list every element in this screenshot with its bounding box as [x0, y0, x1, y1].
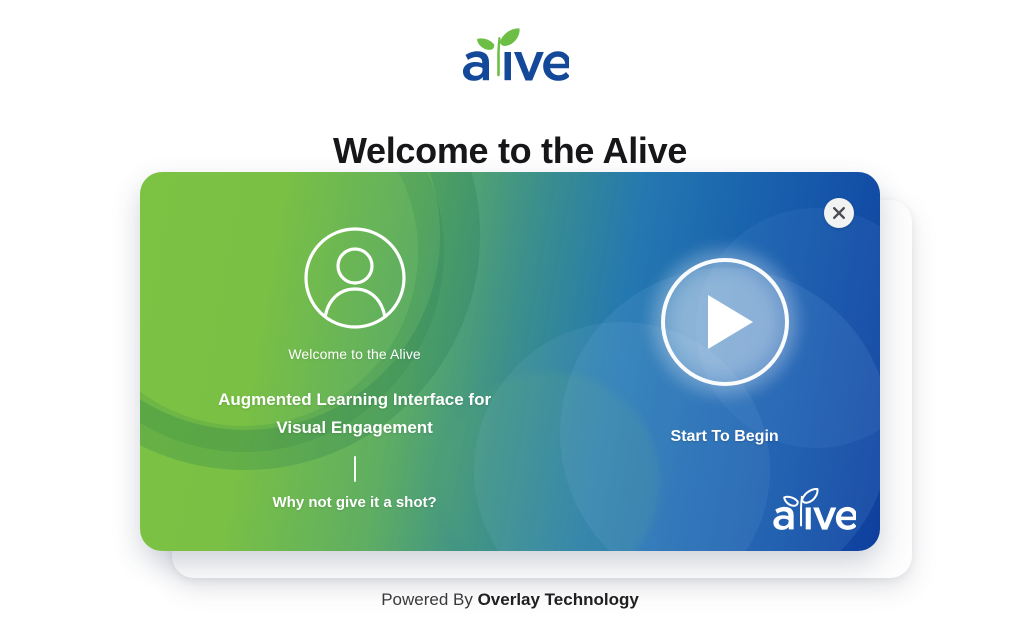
start-to-begin-label: Start To Begin	[671, 428, 779, 446]
footer-powered-by: Powered By	[381, 590, 477, 609]
brand-logo	[0, 18, 1020, 90]
user-avatar-icon	[303, 226, 407, 330]
close-icon	[832, 206, 846, 220]
footer: Powered By Overlay Technology	[0, 590, 1020, 610]
card-welcome-text: Welcome to the Alive	[288, 346, 420, 362]
card-headline: Augmented Learning Interface for Visual …	[218, 386, 491, 442]
welcome-screen: Welcome to the Alive	[0, 0, 1020, 638]
play-button-ring	[661, 258, 789, 386]
card-stack: Welcome to the Alive Augmented Learning …	[140, 172, 912, 582]
play-triangle-icon	[708, 295, 753, 349]
page-title: Welcome to the Alive	[0, 130, 1020, 172]
card-tagline: Why not give it a shot?	[273, 494, 437, 511]
alive-sprout-logo-icon	[451, 22, 569, 86]
vertical-divider	[354, 456, 356, 482]
alive-watermark-logo	[764, 483, 856, 535]
welcome-card: Welcome to the Alive Augmented Learning …	[140, 172, 880, 551]
close-button[interactable]	[824, 198, 854, 228]
alive-watermark-logo-icon	[764, 483, 856, 535]
headline-line-2: Visual Engagement	[276, 418, 433, 437]
footer-company: Overlay Technology	[478, 590, 639, 609]
headline-line-1: Augmented Learning Interface for	[218, 390, 491, 409]
card-left-pane: Welcome to the Alive Augmented Learning …	[140, 172, 569, 551]
play-button[interactable]	[661, 258, 789, 386]
